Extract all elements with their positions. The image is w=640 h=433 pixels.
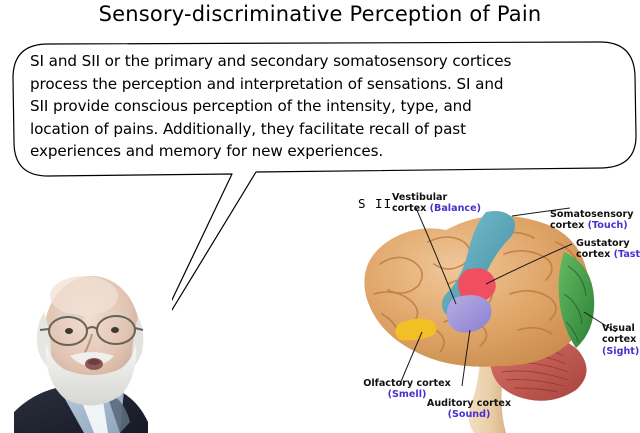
label-vestibular-line1: Vestibular [392, 192, 481, 203]
label-gustatory-paren: (Taste) [614, 249, 640, 260]
brain-diagram: S II S I Vestibular cortex (Balance) Som… [340, 190, 640, 433]
label-visual-line2: cortex [602, 334, 639, 345]
label-visual-line1: Visual [602, 323, 639, 334]
label-vestibular-line2: cortex (Balance) [392, 203, 481, 214]
balloon-line: process the perception and interpretatio… [30, 73, 612, 96]
label-visual-paren: (Sight) [602, 346, 639, 357]
slide-canvas: Sensory-discriminative Perception of Pai… [0, 0, 640, 433]
label-vestibular-cortex: Vestibular cortex (Balance) [392, 192, 481, 215]
balloon-line: SII provide conscious perception of the … [30, 95, 612, 118]
eye-right [111, 327, 119, 333]
label-somatosensory-line2: cortex (Touch) [550, 220, 633, 231]
label-olfactory-line1: Olfactory cortex [352, 378, 462, 389]
balloon-body-text: SI and SII or the primary and secondary … [30, 50, 612, 163]
label-somatosensory-paren: (Touch) [588, 220, 628, 231]
forehead-highlight [50, 276, 118, 316]
label-gustatory-word-cortex: cortex [576, 249, 610, 260]
page-title: Sensory-discriminative Perception of Pai… [0, 2, 640, 26]
balloon-line: location of pains. Additionally, they fa… [30, 118, 612, 141]
label-somatosensory-cortex: Somatosensory cortex (Touch) [550, 209, 633, 232]
label-auditory-paren: (Sound) [414, 409, 524, 420]
mouth-inner [88, 359, 100, 365]
label-vestibular-word-cortex: cortex [392, 203, 426, 214]
label-vestibular-paren: (Balance) [430, 203, 481, 214]
label-somatosensory-word-cortex: cortex [550, 220, 584, 231]
label-somatosensory-line1: Somatosensory [550, 209, 633, 220]
eye-left [65, 328, 73, 334]
speaker-portrait-graphic [12, 272, 172, 433]
label-visual-cortex: Visual cortex (Sight) [602, 323, 639, 357]
label-auditory-line1: Auditory cortex [414, 398, 524, 409]
speaker-photo [12, 272, 172, 433]
label-auditory-cortex: Auditory cortex (Sound) [414, 398, 524, 421]
label-gustatory-line1: Gustatory [576, 238, 640, 249]
label-gustatory-cortex: Gustatory cortex (Taste) [576, 238, 640, 261]
balloon-line: SI and SII or the primary and secondary … [30, 50, 612, 73]
balloon-line: experiences and memory for new experienc… [30, 140, 612, 163]
label-sii: S II [358, 196, 392, 211]
label-gustatory-line2: cortex (Taste) [576, 249, 640, 260]
